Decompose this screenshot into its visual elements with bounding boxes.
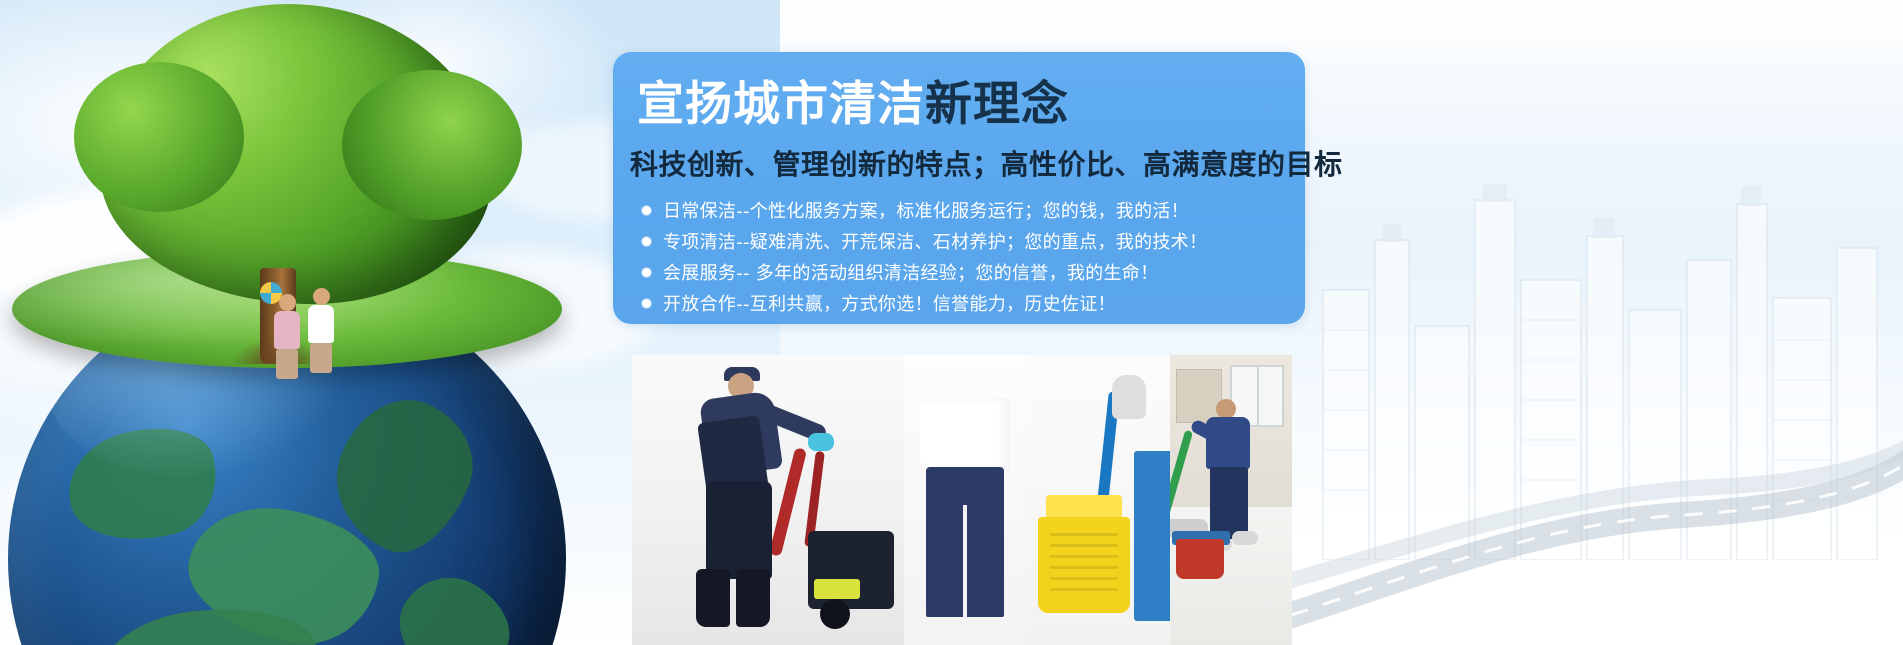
photo-uniform-white-coat xyxy=(904,355,1028,645)
photo-mop-bucket-cart xyxy=(1028,355,1170,645)
photo-floor-scrubbing-worker xyxy=(632,355,904,645)
list-item: 专项清洁--疑难清洗、开荒保洁、石材养护；您的重点，我的技术！ xyxy=(642,227,1342,255)
worker-shirt xyxy=(1206,417,1250,469)
child-legs xyxy=(276,349,298,379)
earth-globe-with-tree-illustration xyxy=(8,172,566,645)
cleaning-cart xyxy=(1134,451,1170,621)
headline-highlight: 宣扬城市清洁 xyxy=(637,77,925,132)
worker-boot xyxy=(696,569,730,627)
child-torso xyxy=(308,305,334,343)
mop-head xyxy=(1112,375,1146,419)
page-title: 宣扬城市清洁新理念 xyxy=(637,74,1069,136)
worker-head xyxy=(1216,399,1236,419)
mop-bucket xyxy=(1176,539,1224,579)
feature-list: 日常保洁--个性化服务方案，标准化服务运行；您的钱，我的活！ 专项清洁--疑难清… xyxy=(642,196,1342,320)
landmass-shape xyxy=(380,559,525,645)
child-legs xyxy=(310,343,332,373)
floor-machine-wheel xyxy=(820,599,850,629)
bullet-dot-icon xyxy=(642,206,651,215)
child-figure xyxy=(274,294,300,379)
bullet-dot-icon xyxy=(642,237,651,246)
page-subtitle: 科技创新、管理创新的特点；高性价比、高满意度的目标 xyxy=(630,146,1343,184)
uniform-coat xyxy=(920,397,1010,471)
headline-rest: 新理念 xyxy=(925,77,1069,132)
photo-kitchen-mopping-worker xyxy=(1170,355,1292,645)
service-photo-strip xyxy=(632,355,1292,645)
uniform-trouser-split xyxy=(963,505,967,617)
list-item-label: 会展服务-- 多年的活动组织清洁经验；您的信誉，我的生命！ xyxy=(663,259,1158,285)
child-torso xyxy=(274,311,300,349)
list-item-label: 日常保洁--个性化服务方案，标准化服务运行；您的钱，我的活！ xyxy=(663,197,1189,223)
kitchen-cabinet xyxy=(1176,369,1222,423)
bullet-dot-icon xyxy=(642,268,651,277)
highway-curve-watermark xyxy=(1213,345,1903,645)
child-figure xyxy=(308,288,334,373)
promo-banner: 宣扬城市清洁新理念 科技创新、管理创新的特点；高性价比、高满意度的目标 日常保洁… xyxy=(0,0,1903,645)
worker-trousers xyxy=(1210,467,1248,539)
list-item: 日常保洁--个性化服务方案，标准化服务运行；您的钱，我的活！ xyxy=(642,196,1342,224)
bucket-grid xyxy=(1050,533,1118,593)
list-item: 开放合作--互利共赢，方式你选！信誉能力，历史佐证！ xyxy=(642,289,1342,317)
child-head xyxy=(313,288,330,305)
floor-machine-panel xyxy=(814,579,860,599)
worker-glove xyxy=(808,433,834,451)
bullet-dot-icon xyxy=(642,299,651,308)
worker-boot xyxy=(736,569,770,627)
list-item: 会展服务-- 多年的活动组织清洁经验；您的信誉，我的生命！ xyxy=(642,258,1342,286)
child-head xyxy=(279,294,296,311)
list-item-label: 专项清洁--疑难清洗、开荒保洁、石材养护；您的重点，我的技术！ xyxy=(663,228,1207,254)
worker-legs xyxy=(706,481,772,579)
worker-shoe xyxy=(1232,531,1258,545)
list-item-label: 开放合作--互利共赢，方式你选！信誉能力，历史佐证！ xyxy=(663,290,1116,316)
